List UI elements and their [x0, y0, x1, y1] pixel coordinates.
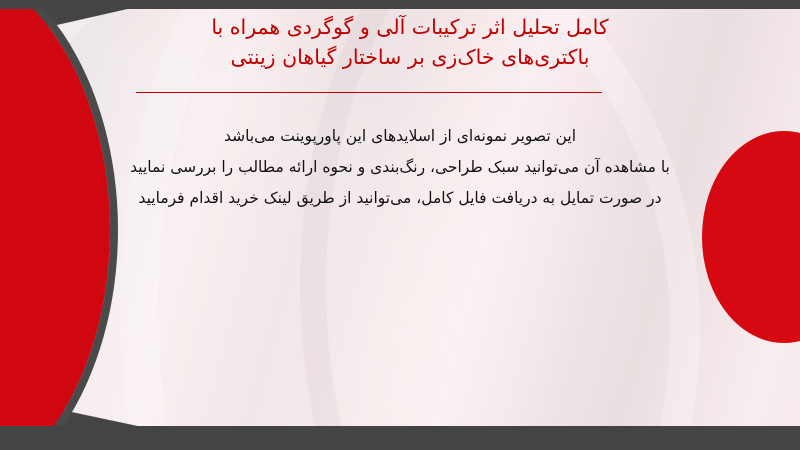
body-line-3: در صورت تمایل به دریافت فایل کامل، می‌تو… — [60, 183, 740, 214]
body-line-1: این تصویر نمونه‌ای از اسلایدهای این پاور… — [60, 121, 740, 152]
body-line-2: با مشاهده آن می‌توانید سبک طراحی، رنگ‌بن… — [60, 152, 740, 183]
title-line-2: باکتری‌های خاک‌زی بر ساختار گیاهان زینتی — [110, 42, 710, 72]
left-top-band-mask — [0, 0, 200, 9]
slide-title: کامل تحلیل اثر ترکیبات آلی و گوگردی همرا… — [110, 12, 710, 72]
title-underline-rule — [136, 92, 602, 93]
title-line-1: کامل تحلیل اثر ترکیبات آلی و گوگردی همرا… — [110, 12, 710, 42]
left-bottom-band-mask — [0, 426, 220, 450]
slide-content: کامل تحلیل اثر ترکیبات آلی و گوگردی همرا… — [0, 9, 800, 426]
slide-body-text: این تصویر نمونه‌ای از اسلایدهای این پاور… — [60, 121, 740, 214]
presentation-slide: کامل تحلیل اثر ترکیبات آلی و گوگردی همرا… — [0, 0, 800, 450]
